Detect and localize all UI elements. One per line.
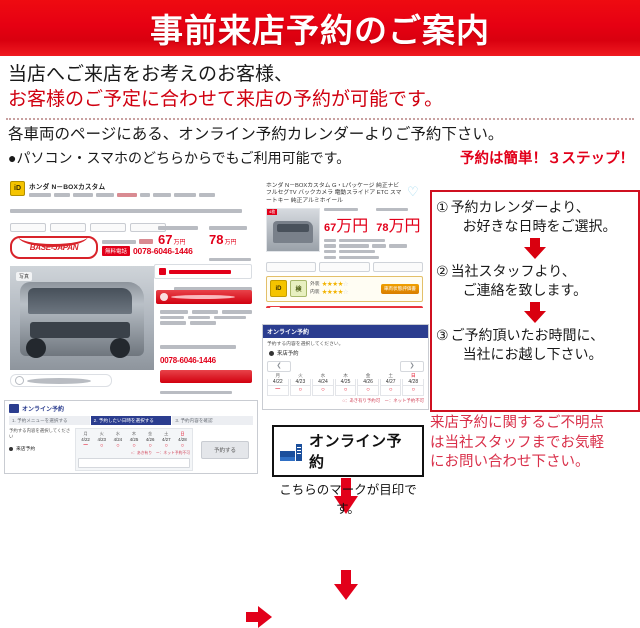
booking-form-screenshot[interactable]: オンライン予約 1. 予約メニューを選択する 2. 予約したい日時を選択する 3…: [4, 400, 258, 474]
calendar-availability[interactable]: ー: [78, 442, 93, 450]
vehicle-detail-screenshot[interactable]: iD ホンダ N－BOXカスタム: [4, 178, 256, 396]
steps-box: ① 予約カレンダーより、 お好きな日時をご選択。 ② 当社スタッフより、 ご連絡…: [430, 190, 640, 412]
car-wheel-right: [110, 338, 130, 358]
listing-price-body-unit: 万円: [389, 218, 421, 235]
car-wheel-left: [26, 338, 46, 358]
calendar-col: 土4/27○: [380, 373, 402, 396]
listing-tab-row[interactable]: [262, 259, 427, 272]
calendar-col: 日4/28○: [402, 373, 424, 396]
step-line-2: ご連絡を致します。: [451, 281, 588, 300]
visit-reservation-button[interactable]: 17 来店・オンライン商談予約: [266, 306, 423, 308]
listing-price-row: 67万円 78万円: [324, 208, 423, 236]
contact-note: 来店予約に関するご不明点 は当社スタッフまでお気軽 にお問い合わせ下さい。: [430, 414, 638, 473]
inspection-icon: 検: [290, 280, 307, 297]
booking-step-2[interactable]: 2. 予約したい日時を選択する: [91, 416, 172, 425]
calendar-col: 月4/22ー: [267, 373, 289, 396]
vehicle-chip[interactable]: [10, 223, 46, 232]
calendar-date: 4/26: [357, 379, 379, 386]
price-body-value: 78: [209, 232, 223, 247]
lead-line-1: 当店へご来店をお考えのお客様、: [8, 62, 632, 87]
calendar-col: 金4/26○: [357, 373, 379, 396]
vehicle-maker: ホンダ: [29, 184, 49, 191]
booking-form-note: 予約する内容を選択してください: [9, 428, 71, 440]
car-grille: [30, 322, 130, 338]
lead-line-3: 各車両のページにある、オンライン予約カレンダーよりご予約下さい。: [8, 124, 632, 145]
booking-cal-col: 土4/27○: [159, 431, 174, 450]
video-icon: [160, 293, 168, 301]
rating-label-exterior: 外装: [310, 281, 320, 289]
calendar-grid[interactable]: 月4/22ー 火4/23○ 水4/24○ 木4/25○ 金4/26○ 土4/27…: [263, 372, 428, 396]
rating-rows: 外装 ★★★★☆ 内装 ★★★★☆: [310, 281, 378, 297]
rating-label-interior: 内装: [310, 289, 320, 297]
flow-arrow-right: [246, 606, 272, 628]
calendar-date: 4/25: [335, 379, 357, 386]
page-title: 事前来店予約のご案内: [150, 4, 490, 52]
booking-cal-col: 木4/25○: [126, 431, 141, 450]
booking-form-right: 予約する: [197, 428, 253, 471]
booking-form-steps[interactable]: 1. 予約メニューを選択する 2. 予約したい日時を選択する 3. 予約内容を確…: [9, 416, 253, 425]
listing-spec-row: [324, 239, 423, 242]
lead-line-2: お客様のご予定に合わせて来店の予約が可能です。: [8, 87, 632, 113]
calendar-icon: 17: [270, 307, 280, 308]
calendar-date: 4/23: [290, 379, 312, 386]
loan-simulation-button[interactable]: [154, 264, 252, 279]
online-reservation-calendar-screenshot[interactable]: オンライン予約 予約する内容を選択してください。 来店予約 ❮ ❯ 月4/22ー…: [262, 324, 429, 410]
calendar-note: 予約する内容を選択してください。: [263, 338, 428, 347]
booking-form-left: 予約する内容を選択してください 来店予約: [9, 428, 71, 471]
listing-spec-row: [324, 244, 423, 247]
photo-badge: 写真: [16, 272, 32, 281]
dealer-logo: BASE-JAPAN: [10, 236, 98, 259]
booking-step-3[interactable]: 3. 予約内容を確認: [172, 416, 253, 425]
calendar-col: 水4/24○: [312, 373, 334, 396]
listing-spec-row: [324, 250, 423, 253]
vehicle-chip[interactable]: [90, 223, 126, 232]
booking-form-header: オンライン予約: [5, 401, 257, 413]
lead-block-2: 各車両のページにある、オンライン予約カレンダーよりご予約下さい。: [0, 120, 640, 145]
step-line-2: お好きな日時をご選択。: [451, 217, 617, 236]
step-line-1: 当社スタッフより、: [451, 263, 576, 279]
booking-cal-col: 水4/24○: [110, 431, 125, 450]
radio-icon: [9, 447, 13, 451]
id-verified-icon: iD: [10, 181, 25, 196]
calendar-availability[interactable]: ○: [380, 386, 402, 396]
booking-radio-label: 来店予約: [16, 445, 35, 452]
step-line-1: 予約カレンダーより、: [451, 199, 590, 215]
time-slot-select[interactable]: [78, 458, 190, 468]
price-total-col: 67万円: [158, 226, 203, 269]
calendar-availability[interactable]: ○: [126, 442, 141, 450]
step-text: 予約カレンダーより、 お好きな日時をご選択。: [451, 198, 617, 236]
car-windshield: [28, 288, 132, 314]
calendar-prev-icon[interactable]: ❮: [267, 361, 291, 372]
lead-row-utility: ●パソコン・スマホのどちらからでもご利用可能です。 予約は簡単！３ステップ！: [0, 145, 640, 168]
free-call-badge: 無料電話: [102, 246, 130, 256]
calendar-date: 4/27: [380, 379, 402, 386]
calendar-availability[interactable]: ○: [335, 386, 357, 396]
price-total-unit: 万円: [173, 240, 185, 246]
listing-specs: 67万円 78万円: [324, 208, 423, 259]
contact-note-line-2: は当社スタッフまでお気軽: [430, 434, 638, 454]
page-banner: 事前来店予約のご案内: [0, 0, 640, 56]
step-item-1: ① 予約カレンダーより、 お好きな日時をご選択。: [432, 192, 638, 236]
step-number: ③: [436, 326, 449, 364]
condition-rating-box: iD 検 外装 ★★★★☆ 内装 ★★★★☆ 車両状態評価書: [266, 276, 423, 302]
vehicle-description-text: [10, 202, 252, 220]
booking-cal-col: 金4/26○: [143, 431, 158, 450]
dealer-phone-number-secondary[interactable]: 0078-6046-1446: [160, 356, 252, 365]
rotate-icon: [15, 376, 24, 385]
listing-thumbnail[interactable]: 4枚: [266, 208, 320, 252]
calendar-col: 木4/25○: [335, 373, 357, 396]
online-reservation-mark-caption: こちらのマークが目印です。: [272, 479, 424, 517]
vehicle-chip[interactable]: [50, 223, 86, 232]
online-negotiation-button[interactable]: [156, 290, 252, 304]
calendar-nav[interactable]: ❮ ❯: [263, 357, 428, 372]
calendar-availability[interactable]: ○: [159, 442, 174, 450]
id-verified-icon: iD: [270, 280, 287, 297]
listing-tab[interactable]: [266, 262, 316, 272]
booking-cal-col: 月4/22ー: [78, 431, 93, 450]
lead-line-4: ●パソコン・スマホのどちらからでもご利用可能です。: [8, 149, 350, 168]
price-summary: 67万円 78万円: [158, 226, 254, 269]
listing-tab[interactable]: [319, 262, 369, 272]
listing-tab[interactable]: [373, 262, 423, 272]
calendar-availability[interactable]: ー: [267, 386, 289, 396]
vehicle-model: N－BOXカスタム: [51, 184, 105, 191]
lead-block: 当店へご来店をお考えのお客様、 お客様のご予定に合わせて来店の予約が可能です。: [0, 56, 640, 115]
booking-form-title: オンライン予約: [22, 404, 64, 413]
step-arrow-1: [524, 238, 546, 260]
vehicle-detail-title: ホンダ N－BOXカスタム: [29, 181, 215, 191]
calculator-icon: [159, 268, 166, 275]
online-reservation-mark-button[interactable]: オンライン予約: [272, 425, 424, 477]
calendar-date: 4/24: [312, 379, 334, 386]
dealer-phone-secondary[interactable]: 0078-6046-1446: [160, 338, 252, 396]
step-item-3: ③ ご予約頂いたお時間に、 当社にお越し下さい。: [432, 326, 638, 364]
step-number: ②: [436, 262, 449, 300]
calendar-radio-label: 来店予約: [277, 349, 299, 357]
building-icon: [280, 442, 302, 461]
calendar-availability[interactable]: ○: [110, 442, 125, 450]
step-arrow-2: [524, 302, 546, 324]
contact-note-line-1: 来店予約に関するご不明点: [430, 414, 638, 434]
calendar-next-icon[interactable]: ❯: [400, 361, 424, 372]
calendar-availability[interactable]: ○: [290, 386, 312, 396]
calendar-availability[interactable]: ○: [357, 386, 379, 396]
booking-calendar[interactable]: 月4/22ー 火4/23○ 水4/24○ 木4/25○ 金4/26○ 土4/27…: [75, 428, 193, 471]
listing-title: ホンダ N－BOXカスタム G・Lパッケージ 純正ナビ フルセグTV バックカメ…: [262, 180, 427, 205]
rating-stars-exterior: ★★★★☆: [322, 281, 349, 289]
calendar-date: 4/28: [402, 379, 424, 386]
heart-icon[interactable]: ♡: [407, 185, 421, 198]
calendar-radio-visit[interactable]: 来店予約: [263, 347, 428, 357]
step-line-1: ご予約頂いたお時間に、: [451, 327, 605, 343]
calendar-date: 4/22: [267, 379, 289, 386]
calendar-col: 火4/23○: [290, 373, 312, 396]
listing-card-screenshot[interactable]: ♡ ホンダ N－BOXカスタム G・Lパッケージ 純正ナビ フルセグTV バック…: [262, 180, 427, 308]
listing-price-total: 67: [324, 222, 336, 234]
calendar-availability[interactable]: ○: [312, 386, 334, 396]
guide-page: 事前来店予約のご案内 当店へご来店をお考えのお客様、 お客様のご予定に合わせて来…: [0, 0, 640, 480]
flow-arrow-down-2: [334, 570, 358, 600]
listing-spec-row: [324, 256, 423, 259]
step-line-2: 当社にお越し下さい。: [451, 345, 605, 364]
condition-report-button[interactable]: 車両状態評価書: [381, 284, 419, 294]
vehicle-feature-tags: [29, 193, 215, 197]
price-total-value: 67: [158, 232, 172, 247]
step-number: ①: [436, 198, 449, 236]
calendar-panel-title: オンライン予約: [263, 325, 428, 338]
radio-icon: [269, 351, 274, 356]
booking-calendar-legend: ○：あき有り ー：ネット予約不可: [78, 451, 190, 456]
booking-radio-visit[interactable]: 来店予約: [9, 445, 71, 452]
steps-kicker: 予約は簡単！３ステップ！: [460, 147, 634, 168]
calendar-availability[interactable]: ○: [143, 442, 158, 450]
rating-stars-interior: ★★★★☆: [322, 289, 349, 297]
vehicle-detail-header: iD ホンダ N－BOXカスタム: [4, 178, 256, 197]
calendar-legend: ○：あき有り予約可 ー：ネット予約不可: [263, 396, 428, 404]
booking-form-main: 予約する内容を選択してください 来店予約 月4/22ー 火4/23○ 水4/24…: [5, 425, 257, 471]
step-item-2: ② 当社スタッフより、 ご連絡を致します。: [432, 262, 638, 300]
booking-cal-col: 火4/23○: [94, 431, 109, 450]
reserve-visit-button[interactable]: [160, 370, 252, 383]
vehicle-photo[interactable]: 写真: [10, 266, 154, 370]
price-body-unit: 万円: [224, 240, 236, 246]
calendar-availability[interactable]: ○: [402, 386, 424, 396]
contact-note-line-3: にお問い合わせ下さい。: [430, 453, 638, 473]
booking-step-1[interactable]: 1. 予約メニューを選択する: [9, 416, 90, 425]
listing-price-body: 78: [376, 222, 388, 234]
rating-row-exterior: 外装 ★★★★☆: [310, 281, 378, 289]
booking-calendar-grid[interactable]: 月4/22ー 火4/23○ 水4/24○ 木4/25○ 金4/26○ 土4/27…: [78, 431, 190, 450]
calendar-availability[interactable]: ○: [175, 442, 190, 450]
calendar-icon: [9, 404, 19, 413]
price-body-col: 78万円: [209, 226, 254, 269]
step-text: 当社スタッフより、 ご連絡を致します。: [451, 262, 588, 300]
booking-submit-button[interactable]: 予約する: [201, 441, 249, 459]
thumbnail-tag: 4枚: [267, 209, 277, 215]
listing-price-total-unit: 万円: [336, 218, 368, 235]
booking-cal-col: 日4/28○: [175, 431, 190, 450]
step-text: ご予約頂いたお時間に、 当社にお越し下さい。: [451, 326, 605, 364]
thumbnail-windshield: [277, 224, 309, 232]
calendar-availability[interactable]: ○: [94, 442, 109, 450]
online-reservation-mark: オンライン予約 こちらのマークが目印です。: [272, 425, 424, 517]
rating-row-interior: 内装 ★★★★☆: [310, 289, 378, 297]
vehicle-spec-grid: [160, 310, 252, 325]
online-reservation-mark-label: オンライン予約: [309, 430, 414, 472]
listing-body: 4枚 67万円 78万円: [262, 205, 427, 259]
view-360-button[interactable]: [10, 374, 112, 387]
